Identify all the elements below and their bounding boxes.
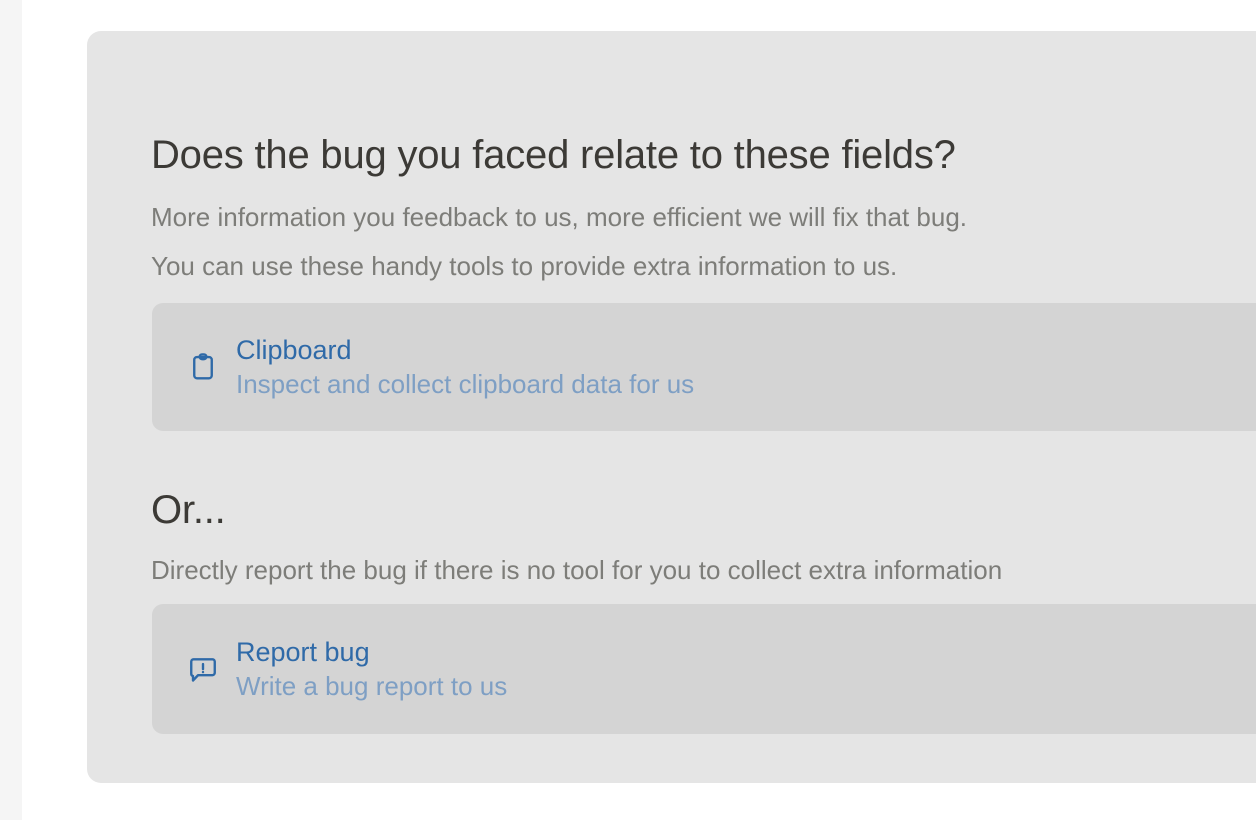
tool-card-title: Report bug: [236, 635, 507, 669]
report-bug-icon: [186, 652, 220, 686]
tool-card-clipboard[interactable]: Clipboard Inspect and collect clipboard …: [152, 303, 1256, 431]
section-description-line-2: You can use these handy tools to provide…: [151, 248, 897, 284]
tool-card-text: Clipboard Inspect and collect clipboard …: [236, 333, 694, 401]
tool-card-subtitle: Inspect and collect clipboard data for u…: [236, 367, 694, 401]
section-heading-or: Or...: [151, 487, 226, 533]
bug-feedback-panel: Does the bug you faced relate to these f…: [87, 31, 1256, 783]
section-heading-fields: Does the bug you faced relate to these f…: [151, 132, 956, 178]
tool-card-report-bug[interactable]: Report bug Write a bug report to us: [152, 604, 1256, 734]
tool-card-subtitle: Write a bug report to us: [236, 669, 507, 703]
tool-card-text: Report bug Write a bug report to us: [236, 635, 507, 703]
section-two-description: Directly report the bug if there is no t…: [151, 552, 1002, 588]
left-gutter-strip: [0, 0, 22, 820]
section-description-line-1: More information you feedback to us, mor…: [151, 199, 967, 235]
tool-card-title: Clipboard: [236, 333, 694, 367]
clipboard-icon: [186, 350, 220, 384]
